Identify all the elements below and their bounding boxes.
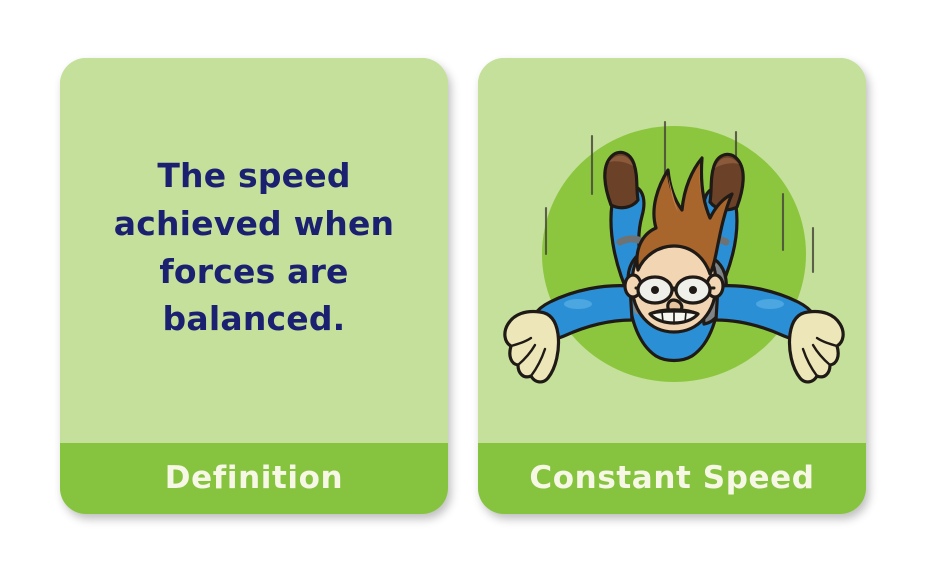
term-card-body	[478, 58, 866, 443]
skydiver-eye-left	[651, 286, 659, 294]
flashcard-stage: The speed achieved when forces are balan…	[0, 0, 945, 583]
skydiver-illustration	[478, 58, 866, 443]
definition-text: The speed achieved when forces are balan…	[88, 152, 420, 343]
term-card-footer: Constant Speed	[478, 443, 866, 514]
skydiver-svg	[478, 58, 866, 443]
definition-card-body: The speed achieved when forces are balan…	[60, 58, 448, 443]
skydiver-eye-right	[689, 286, 697, 294]
skydiver-right-hand	[789, 312, 843, 382]
definition-card-footer: Definition	[60, 443, 448, 514]
term-footer-label: Constant Speed	[529, 463, 814, 494]
flashcard-definition[interactable]: The speed achieved when forces are balan…	[60, 58, 448, 514]
skydiver-left-hand	[505, 312, 559, 382]
flashcard-term[interactable]: Constant Speed	[478, 58, 866, 514]
definition-footer-label: Definition	[165, 463, 343, 494]
